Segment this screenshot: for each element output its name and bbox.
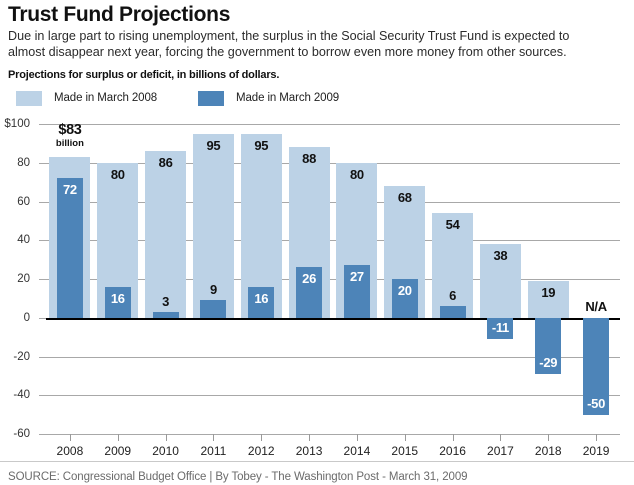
- bar-group[interactable]: 8826: [289, 124, 330, 434]
- x-axis-label-2010: 2010: [152, 444, 179, 458]
- x-axis-label-2013: 2013: [296, 444, 323, 458]
- callout-unit: billion: [49, 139, 90, 149]
- y-axis-tick-label: 80: [0, 157, 30, 169]
- page-title: Trust Fund Projections: [8, 3, 626, 27]
- y-axis-tick-label: -20: [0, 351, 30, 363]
- x-axis-tick-mark: [405, 434, 406, 441]
- bar-group[interactable]: 8016: [97, 124, 138, 434]
- bar-label-made-in-march-2008: 68: [384, 190, 425, 205]
- bar-group[interactable]: 19-29: [528, 124, 569, 434]
- bar-label-made-in-march-2009: -11: [480, 320, 521, 335]
- x-axis-label-2015: 2015: [391, 444, 418, 458]
- y-axis-tick-label: 40: [0, 234, 30, 246]
- bar-group[interactable]: $83billion72: [49, 124, 90, 434]
- bar-label-made-in-march-2008: 38: [480, 248, 521, 263]
- x-axis-tick-mark: [261, 434, 262, 441]
- x-axis-tick-mark: [309, 434, 310, 441]
- bar-group[interactable]: 6820: [384, 124, 425, 434]
- y-axis-tick-label: -40: [0, 389, 30, 401]
- bar-label-made-in-march-2009: 9: [193, 282, 234, 297]
- x-axis-label-2019: 2019: [583, 444, 610, 458]
- x-axis-tick-mark: [166, 434, 167, 441]
- y-axis-tick-label: 60: [0, 196, 30, 208]
- bar-label-na: N/A: [576, 299, 617, 314]
- x-axis-tick-mark: [70, 434, 71, 441]
- footer: SOURCE: Congressional Budget Office | By…: [0, 461, 634, 485]
- y-axis-tick-mark: [39, 163, 46, 164]
- bar-group[interactable]: 9516: [241, 124, 282, 434]
- bar-group[interactable]: 38-11: [480, 124, 521, 434]
- bar-label-made-in-march-2009: 20: [384, 283, 425, 298]
- x-axis-tick-mark: [500, 434, 501, 441]
- bar-label-made-in-march-2009: 72: [49, 182, 90, 197]
- bar-label-made-in-march-2009: 16: [241, 291, 282, 306]
- callout-83-billion: $83billion: [49, 123, 90, 148]
- legend-item-2008: Made in March 2008: [16, 90, 157, 106]
- bar-group[interactable]: 959: [193, 124, 234, 434]
- bar-made-in-march-2009[interactable]: [57, 178, 83, 318]
- bar-label-made-in-march-2009: 3: [145, 294, 186, 309]
- y-axis-tick-label: -60: [0, 428, 30, 440]
- legend: Made in March 2008 Made in March 2009: [8, 90, 626, 106]
- y-axis-tick-label: 20: [0, 273, 30, 285]
- legend-item-2009: Made in March 2009: [198, 90, 339, 106]
- legend-swatch-2008: [16, 91, 42, 106]
- bar-label-made-in-march-2008: 54: [432, 217, 473, 232]
- y-axis-tick-mark: [39, 434, 46, 435]
- bar-made-in-march-2009[interactable]: [200, 300, 226, 317]
- y-axis-tick-mark: [39, 279, 46, 280]
- x-axis-label-2012: 2012: [248, 444, 275, 458]
- x-axis-label-2011: 2011: [201, 444, 227, 458]
- y-axis-tick-mark: [39, 357, 46, 358]
- bar-made-in-march-2009[interactable]: [153, 312, 179, 318]
- y-axis-tick-mark: [39, 395, 46, 396]
- x-axis-tick-mark: [453, 434, 454, 441]
- bar-group[interactable]: 8027: [336, 124, 377, 434]
- x-axis-label-2009: 2009: [104, 444, 131, 458]
- bar-label-made-in-march-2009: 16: [97, 291, 138, 306]
- bar-made-in-march-2009[interactable]: [440, 306, 466, 318]
- bar-made-in-march-2008[interactable]: [145, 151, 186, 318]
- bar-groups: $83billion728016863959951688268027682054…: [46, 124, 620, 434]
- x-axis-label-2008: 2008: [57, 444, 84, 458]
- bar-label-made-in-march-2008: 88: [289, 151, 330, 166]
- y-axis-tick-mark: [39, 318, 46, 319]
- infographic-root: Trust Fund Projections Due in large part…: [0, 0, 634, 485]
- header: Trust Fund Projections Due in large part…: [0, 0, 634, 106]
- legend-label-2009: Made in March 2009: [236, 92, 339, 104]
- bar-group[interactable]: N/A-50: [576, 124, 617, 434]
- y-axis-tick-mark: [39, 202, 46, 203]
- x-axis-tick-mark: [213, 434, 214, 441]
- y-axis-tick-label: 0: [0, 312, 30, 324]
- bar-label-made-in-march-2009: 27: [336, 269, 377, 284]
- bar-label-made-in-march-2008: 19: [528, 285, 569, 300]
- bar-chart: $100806040200-20-40-60 $83billion7280168…: [0, 118, 634, 448]
- x-axis-label-2016: 2016: [439, 444, 466, 458]
- bar-label-made-in-march-2008: 95: [241, 138, 282, 153]
- x-axis-tick-mark: [548, 434, 549, 441]
- x-axis-tick-mark: [357, 434, 358, 441]
- callout-value: $83: [49, 123, 90, 138]
- bar-label-made-in-march-2009: 26: [289, 271, 330, 286]
- source-text: SOURCE: Congressional Budget Office | By…: [8, 471, 467, 483]
- legend-swatch-2009: [198, 91, 224, 106]
- legend-label-2008: Made in March 2008: [54, 92, 157, 104]
- y-axis-tick-mark: [39, 124, 46, 125]
- bar-label-made-in-march-2008: 80: [336, 167, 377, 182]
- bar-label-made-in-march-2009: -29: [528, 355, 569, 370]
- bar-label-made-in-march-2009: 6: [432, 288, 473, 303]
- x-axis-tick-mark: [118, 434, 119, 441]
- axis-note: Projections for surplus or deficit, in b…: [8, 69, 626, 81]
- bar-label-made-in-march-2008: 86: [145, 155, 186, 170]
- bar-group[interactable]: 546: [432, 124, 473, 434]
- x-axis-label-2018: 2018: [535, 444, 562, 458]
- x-axis-tick-mark: [596, 434, 597, 441]
- y-axis-tick-label: $100: [0, 118, 30, 130]
- plot-area: $100806040200-20-40-60 $83billion7280168…: [46, 124, 620, 434]
- x-axis-label-2017: 2017: [487, 444, 514, 458]
- y-axis-tick-mark: [39, 240, 46, 241]
- x-axis-line: [46, 434, 620, 435]
- bar-label-made-in-march-2008: 80: [97, 167, 138, 182]
- bar-label-made-in-march-2008: 95: [193, 138, 234, 153]
- x-axis-label-2014: 2014: [344, 444, 371, 458]
- bar-label-made-in-march-2009: -50: [576, 396, 617, 411]
- bar-group[interactable]: 863: [145, 124, 186, 434]
- deck-text: Due in large part to rising unemployment…: [8, 29, 608, 60]
